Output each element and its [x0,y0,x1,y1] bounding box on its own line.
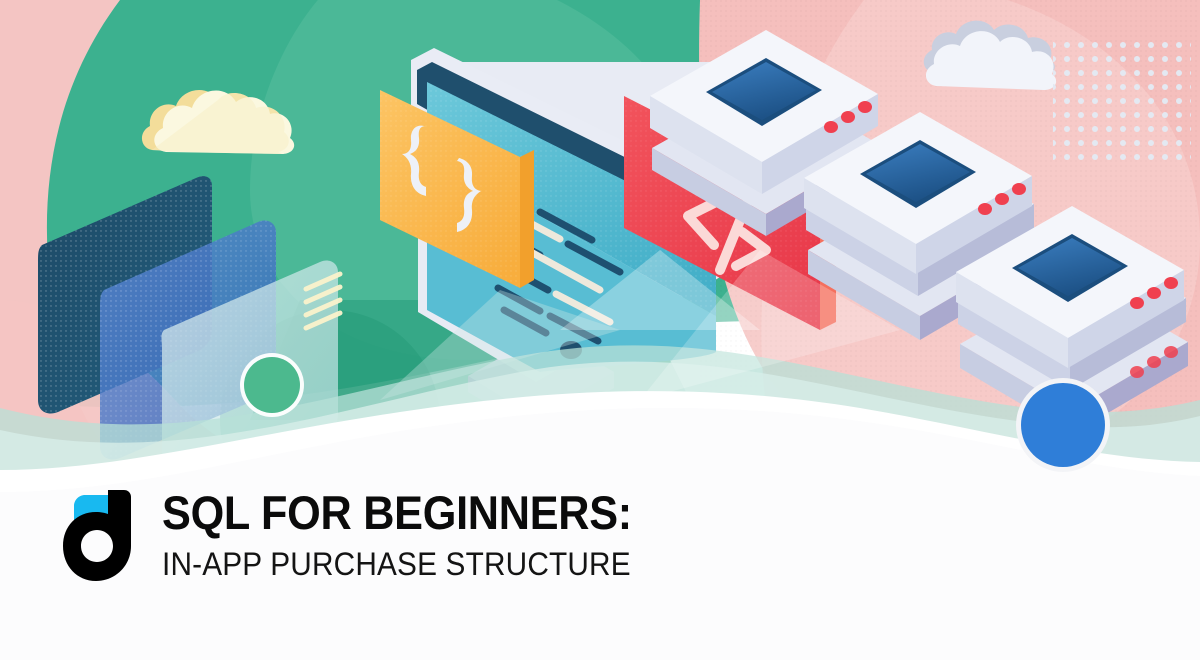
dot-grid-pattern [1053,38,1191,164]
page-title: SQL FOR BEGINNERS: [162,488,632,538]
title-block: SQL FOR BEGINNERS: IN-APP PURCHASE STRUC… [162,488,673,582]
brand-row: SQL FOR BEGINNERS: IN-APP PURCHASE STRUC… [62,488,673,584]
page-subtitle: IN-APP PURCHASE STRUCTURE [162,546,637,582]
accent-circle-green-fill [244,357,300,413]
dataquest-d-logo-icon[interactable] [62,488,140,584]
title-footer: SQL FOR BEGINNERS: IN-APP PURCHASE STRUC… [0,470,1200,660]
braces-card-side [520,150,534,288]
hero-banner: SQL FOR BEGINNERS: IN-APP PURCHASE STRUC… [0,0,1200,660]
accent-circle-blue-fill [1021,383,1105,467]
